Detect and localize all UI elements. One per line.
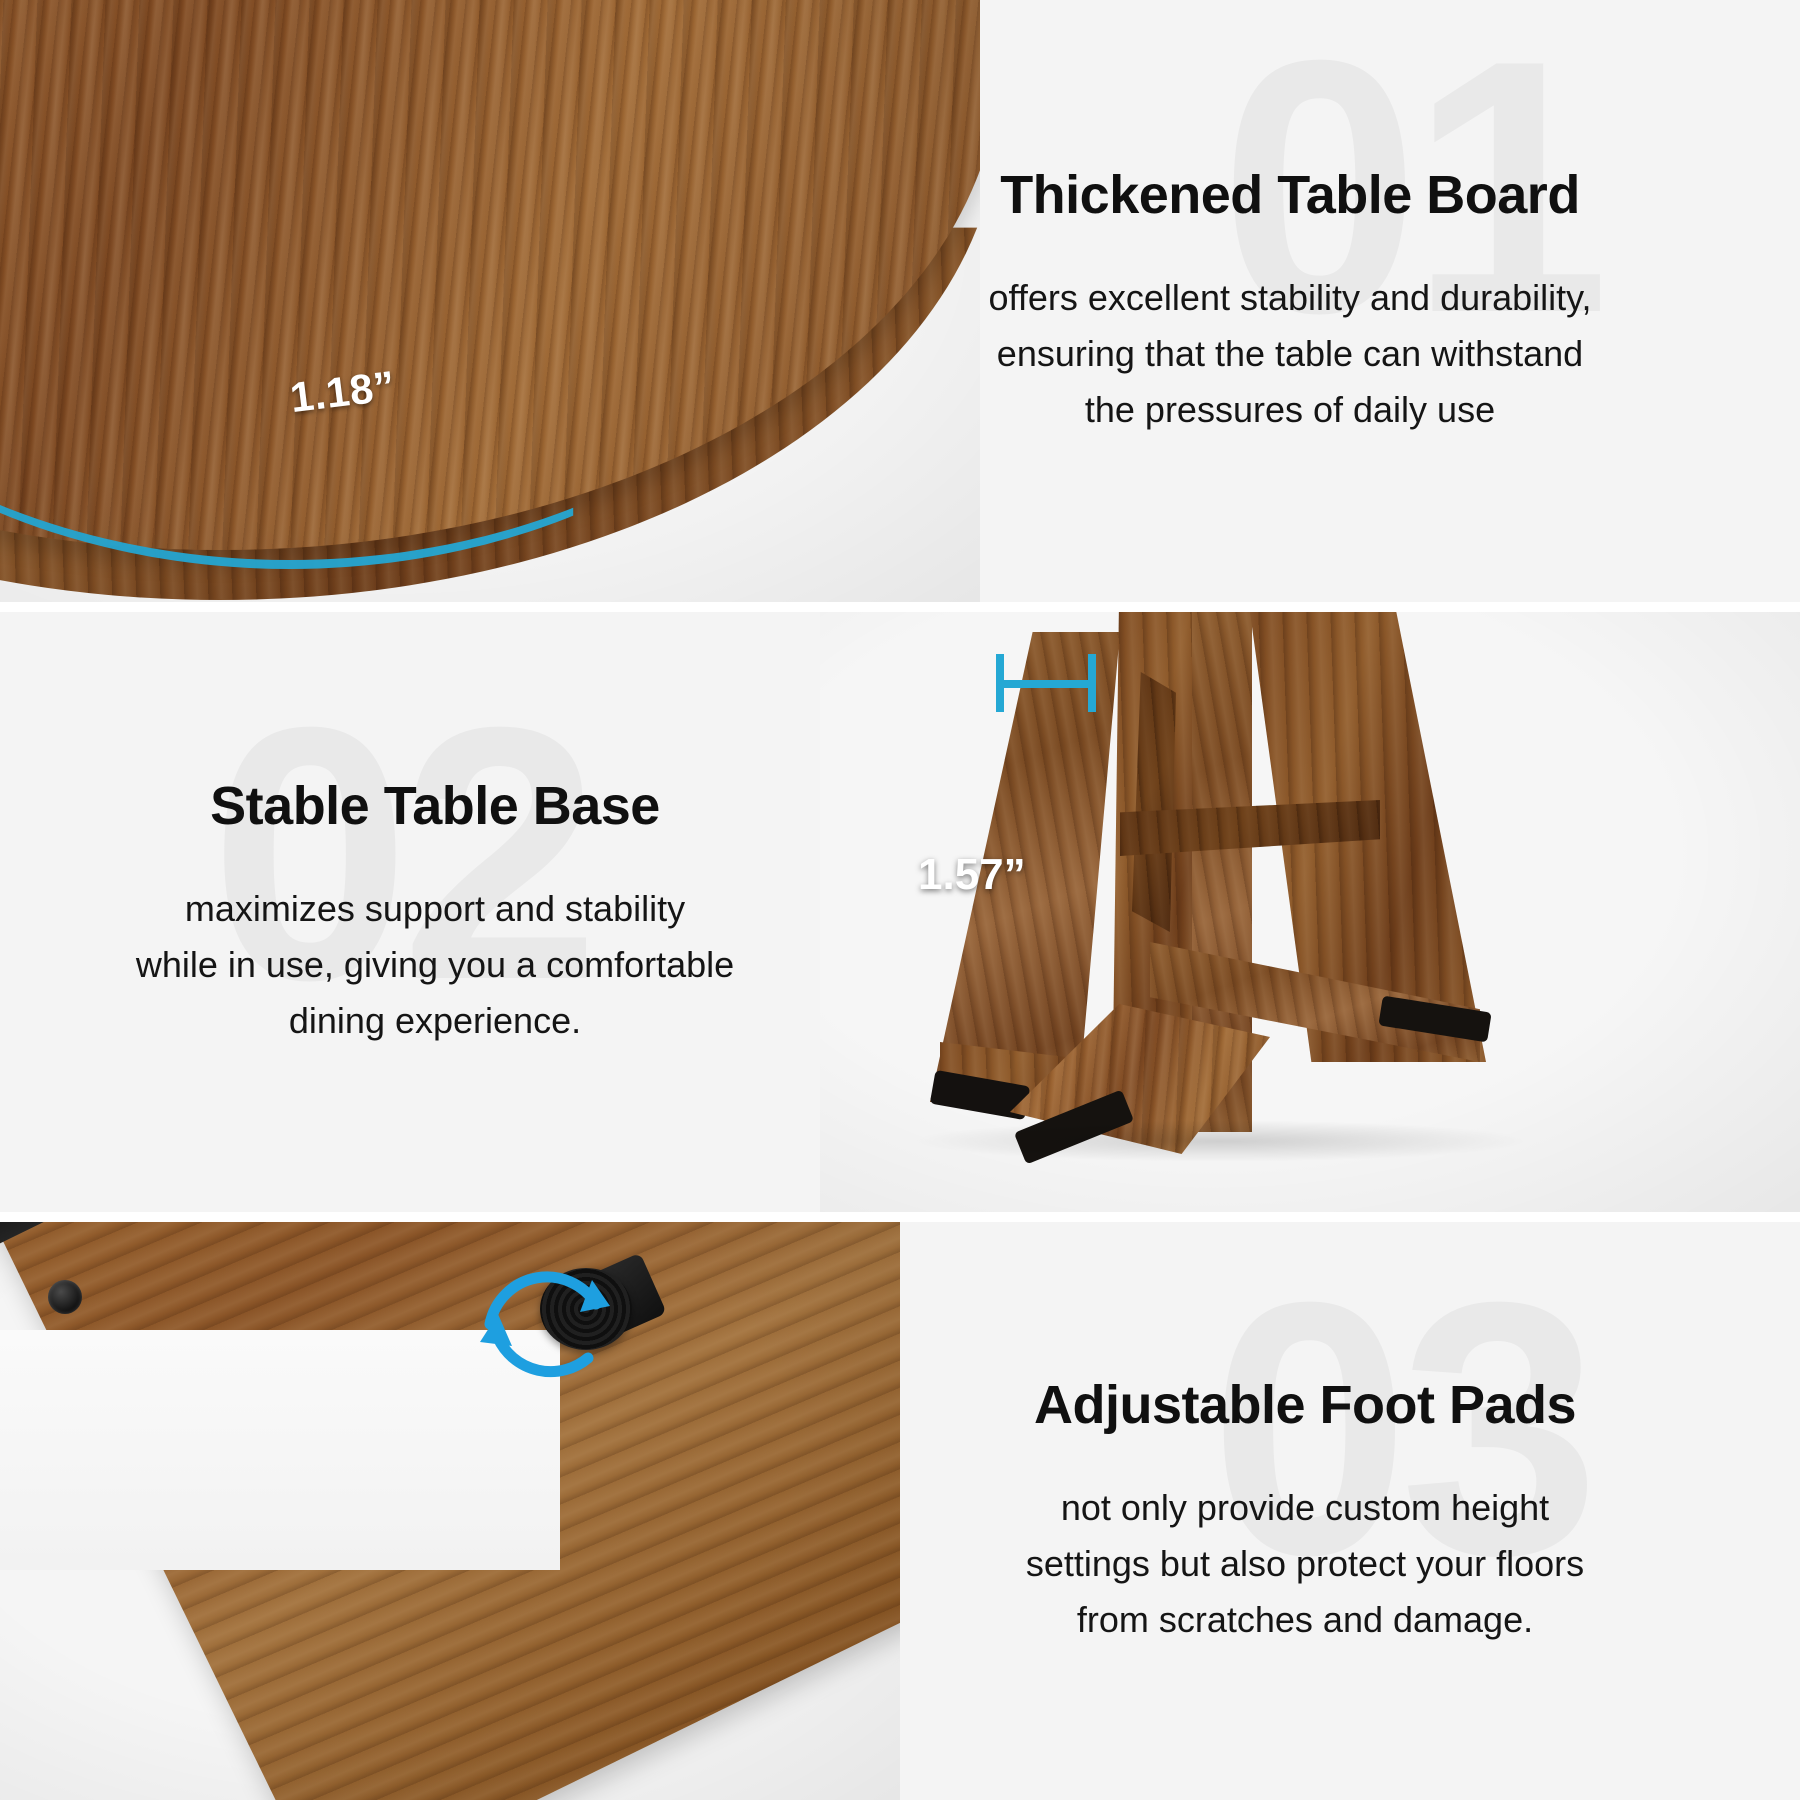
panel-03-copy: 03 Adjustable Foot Pads not only provide… bbox=[840, 1222, 1800, 1800]
marker-bar bbox=[996, 680, 1096, 688]
body-line: from scratches and damage. bbox=[1077, 1599, 1533, 1640]
feature-body-02: maximizes support and stability while in… bbox=[55, 881, 815, 1048]
feature-body-01: offers excellent stability and durabilit… bbox=[880, 270, 1700, 437]
body-line: dining experience. bbox=[289, 1000, 581, 1041]
panel-01-copy: 01 Thickened Table Board offers excellen… bbox=[820, 0, 1800, 602]
body-line: while in use, giving you a comfortable bbox=[136, 944, 734, 985]
panel-02-copy: 02 Stable Table Base maximizes support a… bbox=[0, 612, 870, 1212]
panel-divider bbox=[0, 1212, 1800, 1222]
width-marker-icon bbox=[996, 654, 1096, 710]
feature-title-01: Thickened Table Board bbox=[820, 164, 1760, 226]
panel-02-photo: 1.57” bbox=[820, 612, 1800, 1212]
body-line: maximizes support and stability bbox=[185, 888, 685, 929]
width-dimension-label: 1.57” bbox=[918, 850, 1026, 900]
feature-body-03: not only provide custom height settings … bbox=[935, 1480, 1675, 1647]
feature-title-03: Adjustable Foot Pads bbox=[840, 1374, 1770, 1436]
feature-title-02: Stable Table Base bbox=[0, 775, 870, 837]
body-line: the pressures of daily use bbox=[1085, 389, 1495, 430]
infographic-sheet: 1.18” 01 Thickened Table Board offers ex… bbox=[0, 0, 1800, 1800]
screw-icon bbox=[48, 1280, 82, 1314]
marker-cap-right bbox=[1088, 654, 1096, 712]
rotation-arrow-icon bbox=[468, 1246, 618, 1396]
body-line: offers excellent stability and durabilit… bbox=[989, 277, 1592, 318]
contact-shadow bbox=[910, 1120, 1530, 1162]
body-line: ensuring that the table can withstand bbox=[997, 333, 1583, 374]
panel-divider bbox=[0, 602, 1800, 612]
feature-panel-02: 02 Stable Table Base maximizes support a… bbox=[0, 612, 1800, 1212]
body-line: not only provide custom height bbox=[1061, 1487, 1549, 1528]
body-line: settings but also protect your floors bbox=[1026, 1543, 1584, 1584]
feature-panel-01: 1.18” 01 Thickened Table Board offers ex… bbox=[0, 0, 1800, 602]
